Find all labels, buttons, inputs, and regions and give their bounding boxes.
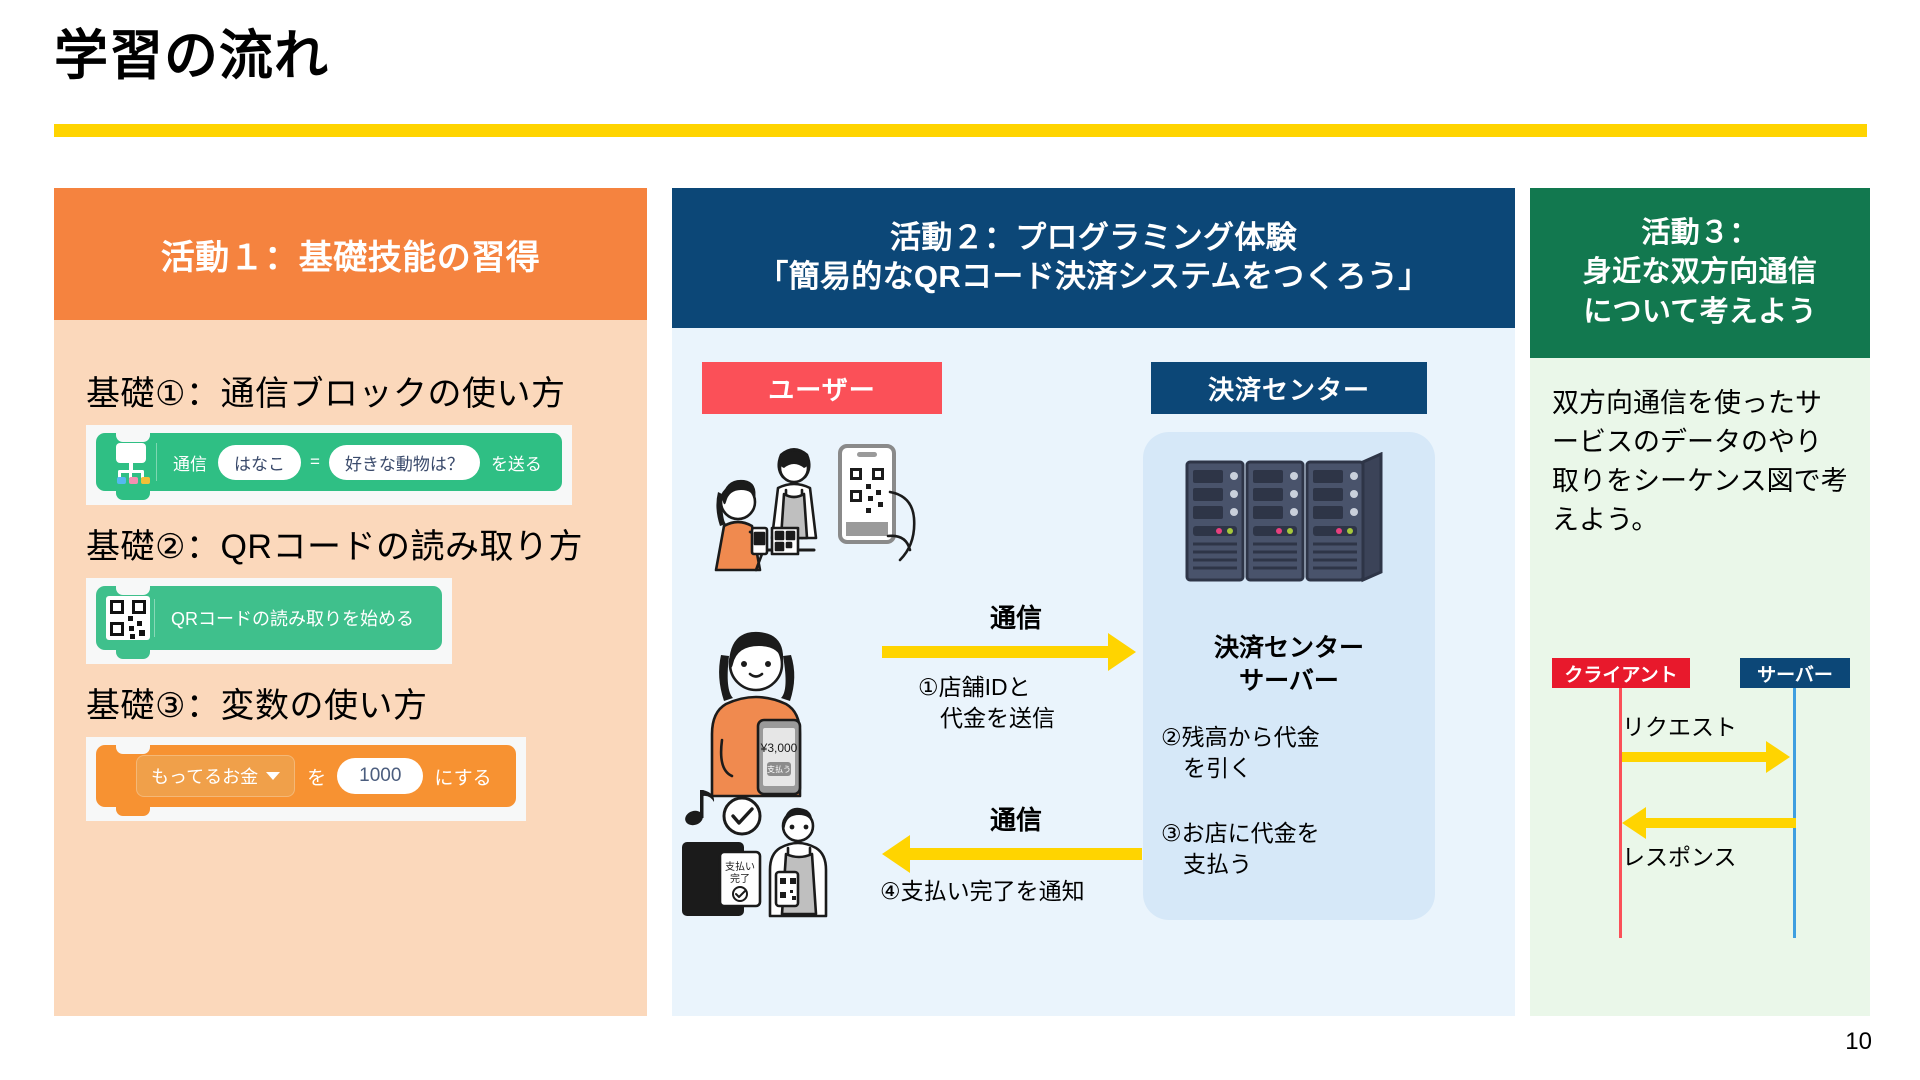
sequence-server-tag: サーバー bbox=[1740, 658, 1850, 688]
phone-pay-button-text: 支払う bbox=[767, 764, 791, 774]
user-with-phone-illustration: ¥3,000 支払う bbox=[700, 620, 830, 800]
flow-1-sub-line2: 代金を送信 bbox=[918, 703, 1055, 734]
block-divider bbox=[154, 599, 155, 637]
activity1-body: 基礎①：通信ブロックの使い方 bbox=[54, 320, 647, 821]
activity1-item-2-label: 基礎②：QRコードの読み取り方 bbox=[86, 519, 615, 568]
variable-value-field[interactable]: 1000 bbox=[337, 758, 423, 794]
payment-center-step-2-head: ②残高から代金 bbox=[1161, 722, 1423, 753]
qr-block-label: QRコードの読み取りを始める bbox=[171, 605, 414, 631]
variable-dropdown-value: もってるお金 bbox=[151, 763, 258, 789]
activity2-header-line2: 「簡易的なQRコード決済システムをつくろう」 bbox=[757, 258, 1429, 297]
communication-field-name[interactable]: はなこ bbox=[218, 445, 301, 480]
sequence-diagram: クライアント サーバー リクエスト レスポンス bbox=[1530, 640, 1870, 980]
flow-1-sub: ①店舗IDと 代金を送信 bbox=[918, 672, 1055, 734]
communication-block-frame: 通信 はなこ = 好きな動物は？ を送る bbox=[86, 425, 572, 505]
activity1-header: 活動１：基礎技能の習得 bbox=[54, 188, 647, 320]
payment-center-server-title-line1: 決済センター bbox=[1143, 632, 1435, 665]
sequence-request-label: リクエスト bbox=[1622, 708, 1737, 742]
flow-2-sub: ④支払い完了を通知 bbox=[880, 876, 1085, 907]
payment-center-server-title: 決済センター サーバー bbox=[1143, 632, 1435, 697]
block-divider bbox=[156, 443, 157, 481]
qr-block-frame: QRコードの読み取りを始める bbox=[86, 578, 452, 664]
title-underline-rule bbox=[54, 124, 1867, 137]
communication-field-value[interactable]: 好きな動物は？ bbox=[329, 445, 480, 480]
slide-root: 学習の流れ 活動１：基礎技能の習得 基礎①：通信ブロックの使い方 bbox=[0, 0, 1920, 1080]
phone-amount-text: ¥3,000 bbox=[760, 741, 798, 755]
sequence-client-tag: クライアント bbox=[1552, 658, 1690, 688]
activity3-body-text: 双方向通信を使ったサービスのデータのやり取りをシーケンス図で考えよう。 bbox=[1530, 358, 1870, 541]
phone-done-line1: 支払い bbox=[725, 860, 755, 873]
activity3-header-line2: 身近な双方向通信 bbox=[1583, 253, 1817, 292]
phone-done-line2: 完了 bbox=[730, 872, 750, 885]
flow-2-sub-line1: ④支払い完了を通知 bbox=[880, 876, 1085, 907]
flow-1-sub-line1: ①店舗IDと bbox=[918, 672, 1055, 703]
chevron-down-icon bbox=[266, 772, 280, 780]
payment-center-step-2-cont: を引く bbox=[1161, 753, 1423, 784]
page-number: 10 bbox=[1845, 1028, 1872, 1056]
activity3-header: 活動３： 身近な双方向通信 について考えよう bbox=[1530, 188, 1870, 358]
payment-center-tag: 決済センター bbox=[1151, 362, 1427, 414]
activity2-header-line1: 活動２：プログラミング体験 bbox=[890, 219, 1297, 258]
flow-1-label: 通信 bbox=[990, 598, 1042, 635]
qr-code-icon bbox=[106, 596, 150, 640]
user-scanning-illustration bbox=[692, 432, 952, 592]
payment-center-step-3-cont: 支払う bbox=[1161, 849, 1423, 880]
variable-block[interactable]: もってるお金 を 1000 にする bbox=[96, 745, 516, 807]
variable-block-suffix-text: にする bbox=[434, 763, 491, 790]
activity1-panel: 活動１：基礎技能の習得 基礎①：通信ブロックの使い方 bbox=[54, 188, 647, 1016]
activity1-item-1-label: 基礎①：通信ブロックの使い方 bbox=[86, 366, 615, 415]
payment-complete-illustration: 支払い 完了 bbox=[680, 790, 860, 920]
variable-block-middle-text: を bbox=[307, 763, 326, 790]
user-tag: ユーザー bbox=[702, 362, 942, 414]
variable-dropdown[interactable]: もってるお金 bbox=[136, 755, 295, 797]
communication-icon bbox=[110, 441, 152, 483]
communication-block-label: 通信 bbox=[173, 450, 207, 475]
communication-block[interactable]: 通信 はなこ = 好きな動物は？ を送る bbox=[96, 433, 562, 491]
server-rack-illustration bbox=[1185, 452, 1395, 612]
communication-block-suffix: を送る bbox=[491, 450, 542, 475]
payment-center-step-3-head: ③お店に代金を bbox=[1161, 818, 1423, 849]
payment-center-step-2: ②残高から代金 を引く bbox=[1161, 722, 1423, 784]
qr-block[interactable]: QRコードの読み取りを始める bbox=[96, 586, 442, 650]
sequence-response-label: レスポンス bbox=[1622, 838, 1737, 872]
activity3-header-line3: について考えよう bbox=[1583, 293, 1817, 332]
payment-center-step-3: ③お店に代金を 支払う bbox=[1161, 818, 1423, 880]
sequence-server-lifeline bbox=[1793, 688, 1796, 938]
page-title: 学習の流れ bbox=[54, 24, 329, 89]
variable-block-frame: もってるお金 を 1000 にする bbox=[86, 737, 526, 821]
activity2-header: 活動２：プログラミング体験 「簡易的なQRコード決済システムをつくろう」 bbox=[672, 188, 1515, 328]
activity3-header-line1: 活動３： bbox=[1641, 214, 1758, 253]
payment-center-server-title-line2: サーバー bbox=[1143, 665, 1435, 698]
activity1-item-3-label: 基礎③：変数の使い方 bbox=[86, 678, 615, 727]
flow-2-label: 通信 bbox=[990, 800, 1042, 837]
communication-operator: = bbox=[310, 452, 320, 472]
